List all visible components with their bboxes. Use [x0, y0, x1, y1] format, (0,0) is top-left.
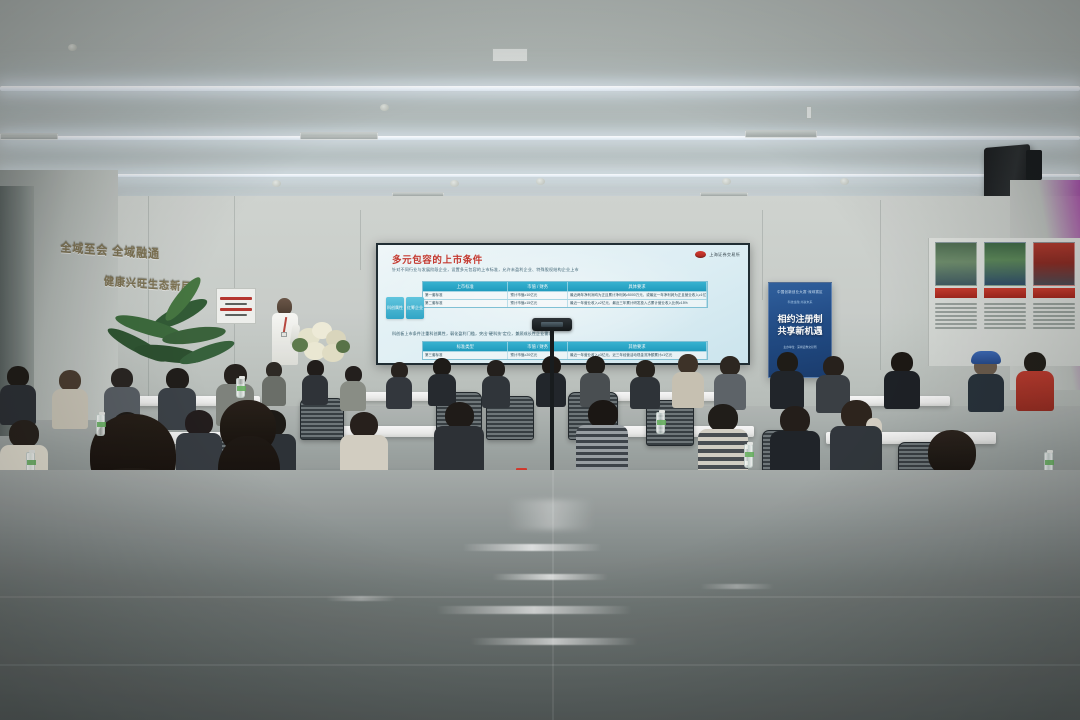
smoke-detector: [272, 180, 281, 187]
attendee: [770, 352, 804, 404]
attendee: [340, 366, 366, 408]
slide-badge-1: 科创属性: [386, 297, 404, 319]
poster-photo: [984, 242, 1026, 286]
water-bottle[interactable]: [744, 444, 753, 468]
table-cell: 最近两年净利润均为正且累计净利润≥5000万元，或最近一年净利润为正且营业收入≥…: [568, 292, 707, 299]
seminar-room-photo: 全域至会 全域融通 健康兴旺生态新局: [0, 0, 1080, 720]
ceiling-junction-box: [806, 106, 812, 119]
flower-arrangement: [292, 318, 350, 366]
attendee: [884, 352, 920, 406]
attendee: [0, 366, 36, 422]
slide-note: 科创板上市条件注重科创属性，弱化盈利门槛，突出“硬科技”定位，兼顾成长性企业需求…: [392, 331, 557, 337]
attendee: [580, 356, 610, 404]
light-reflection: [462, 544, 602, 551]
water-bottle[interactable]: [656, 412, 665, 434]
poster-right: [1033, 242, 1075, 329]
table-row: 第一套标准 预计市值≥10亿元 最近两年净利润均为正且累计净利润≥5000万元，…: [423, 291, 707, 299]
attendee: [482, 360, 510, 406]
slide-badge-2: 红筹企业: [406, 297, 424, 319]
ceiling-junction-box: [492, 48, 528, 62]
presentation-slide: 多元包容的上市条件 针对不同行业与发展阶段企业，设置多元包容的上市标准，允许未盈…: [378, 245, 748, 363]
poster-caption-bar: [935, 288, 977, 298]
logo-text: 上海证券交易所: [709, 252, 740, 258]
wall-seam: [360, 210, 361, 270]
logo-mark-icon: [695, 251, 706, 258]
poster-text-lines: [1033, 303, 1075, 329]
linear-led-strip: [0, 136, 1080, 140]
column-header: 上市标准: [423, 282, 508, 291]
table-cell: 最近一年营业收入≥2亿元，最近三年累计研发投入占累计营业收入比例≥15%: [568, 300, 707, 307]
light-reflection: [508, 500, 594, 530]
water-bottle[interactable]: [236, 378, 245, 398]
table-cell: 预计市值≥10亿元: [508, 292, 568, 299]
slide-subtitle: 针对不同行业与发展阶段企业，设置多元包容的上市标准，允许未盈利企业、特殊股权结构…: [392, 267, 738, 272]
table-row: 第二套标准 预计市值≥15亿元 最近一年营业收入≥2亿元，最近三年累计研发投入占…: [423, 299, 707, 307]
table-header-row: 上市标准 市值 / 财务 具体要求: [423, 282, 707, 291]
attendee: [434, 402, 484, 470]
attendee-red-shirt: [1016, 352, 1054, 408]
attendee: [386, 362, 412, 406]
poster-caption-bar: [984, 288, 1026, 298]
light-reflection: [436, 606, 632, 614]
light-reflection: [492, 574, 608, 580]
wall-seam: [880, 200, 881, 370]
water-bottle[interactable]: [96, 414, 105, 436]
column-header: 市值 / 财务: [508, 342, 568, 351]
wall-seam: [762, 210, 763, 300]
attendee: [302, 360, 328, 402]
table-cell: 第二套标准: [423, 300, 508, 307]
slide-title: 多元包容的上市条件: [392, 252, 483, 266]
exchange-logo: 上海证券交易所: [695, 251, 740, 258]
poster-text-lines: [984, 303, 1026, 329]
column-header: 具体要求: [568, 282, 707, 291]
smoke-detector: [450, 180, 459, 187]
light-reflection: [326, 596, 396, 601]
attendee: [672, 354, 704, 404]
ceiling-air-vent: [0, 133, 58, 140]
smoke-detector: [68, 44, 77, 51]
ceiling-air-vent: [300, 132, 378, 140]
linear-led-strip: [0, 174, 1080, 177]
attendee: [576, 400, 628, 470]
blue-baseball-cap: [971, 351, 1001, 364]
linear-led-strip: [0, 86, 1080, 91]
attendee: [630, 360, 660, 406]
smoke-detector: [380, 104, 389, 111]
attendee: [428, 358, 456, 404]
light-reflection: [470, 638, 638, 645]
speaker-bracket: [1026, 150, 1042, 180]
banner-sub-line: 科技金融 共赢未来: [769, 300, 831, 304]
table-header-row: 标准类型 市值 / 财务 其他要求: [423, 342, 707, 351]
column-header: 其他要求: [568, 342, 707, 351]
light-reflection: [700, 584, 774, 589]
attendee: [262, 362, 286, 402]
projection-screen: 多元包容的上市条件 针对不同行业与发展阶段企业，设置多元包容的上市标准，允许未盈…: [376, 243, 750, 365]
attendee-blue-cap: [968, 354, 1004, 408]
smoke-detector: [536, 178, 545, 185]
ceiling-air-vent: [745, 130, 817, 138]
slide-table-top: 上市标准 市值 / 财务 具体要求 第一套标准 预计市值≥10亿元 最近两年净利…: [422, 281, 708, 308]
banner-top-line: 中国创新创业大赛·深圳赛区: [769, 289, 831, 294]
floor-tile-seam: [0, 664, 1080, 666]
table-cell: 预计市值≥15亿元: [508, 300, 568, 307]
presenter-badge: [281, 332, 287, 337]
poster-caption-bar: [1033, 288, 1075, 298]
poster-center: [984, 242, 1026, 329]
column-header: 市值 / 财务: [508, 282, 568, 291]
column-header: 标准类型: [423, 342, 508, 351]
table-cell: 第一套标准: [423, 292, 508, 299]
floor-tile-seam: [0, 596, 1080, 598]
smoke-detector: [722, 178, 731, 185]
smoke-detector: [840, 178, 849, 185]
poster-text-lines: [935, 303, 977, 329]
poster-display-wall: [928, 238, 1080, 366]
attendee: [714, 356, 746, 406]
banner-headline: 相约注册制 共享新机遇: [769, 313, 831, 337]
poster-left: [935, 242, 977, 329]
poster-photo: [1033, 242, 1075, 286]
banner-footer: 主办单位 · 深圳证券交易所: [769, 345, 831, 349]
poster-photo: [935, 242, 977, 286]
